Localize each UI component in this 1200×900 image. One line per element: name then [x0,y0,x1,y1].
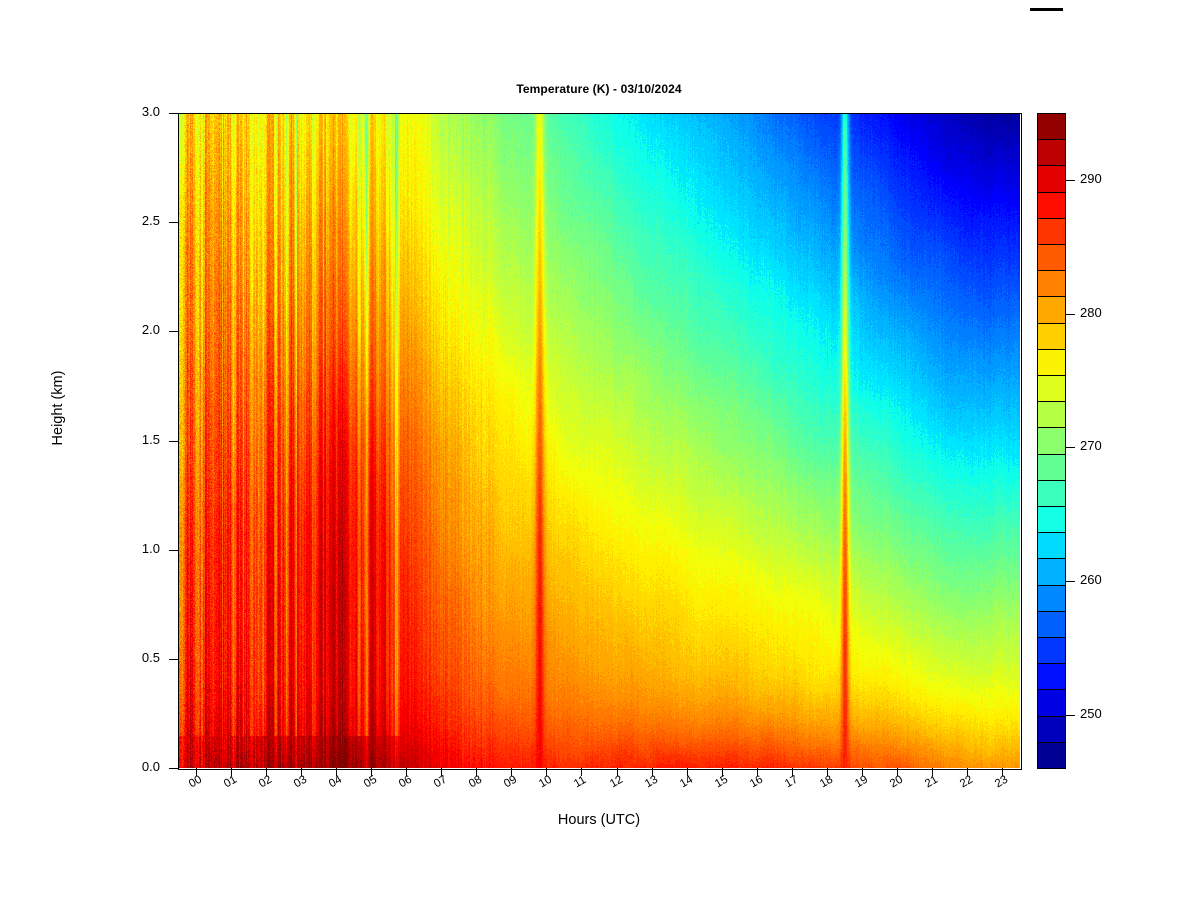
x-tick-label-10: 10 [537,774,554,791]
colorbar-tick-260 [1066,581,1075,582]
colorbar-cell [1037,349,1066,376]
y-tick-label-0.0: 0.0 [104,759,160,774]
x-tick-label-02: 02 [257,774,274,791]
y-tick-3.0 [169,113,178,114]
y-tick-2.5 [169,222,178,223]
colorbar-cell [1037,480,1066,507]
x-axis-label: Hours (UTC) [178,812,1020,828]
colorbar-cell [1037,663,1066,690]
colorbar-cell [1037,192,1066,219]
x-tick-label-22: 22 [958,774,975,791]
colorbar-tick-250 [1066,715,1075,716]
y-tick-label-2.0: 2.0 [104,322,160,337]
colorbar-cell [1037,558,1066,585]
colorbar-cell [1037,139,1066,166]
x-tick-label-06: 06 [397,774,414,791]
y-tick-label-0.5: 0.5 [104,650,160,665]
x-tick-label-07: 07 [432,774,449,791]
x-tick-label-12: 12 [608,774,625,791]
y-tick-0.0 [169,768,178,769]
y-tick-label-3.0: 3.0 [104,104,160,119]
colorbar-cell [1037,506,1066,533]
x-tick-label-14: 14 [678,774,695,791]
y-tick-label-2.5: 2.5 [104,213,160,228]
colorbar-label-260: 260 [1080,572,1102,587]
chart-figure: Temperature (K) - 03/10/2024 00010203040… [0,0,1200,900]
colorbar-cell [1037,716,1066,743]
x-tick-label-19: 19 [853,774,870,791]
x-tick-label-05: 05 [362,774,379,791]
y-tick-label-1.0: 1.0 [104,541,160,556]
x-tick-label-03: 03 [292,774,309,791]
x-tick-label-13: 13 [643,774,660,791]
x-tick-label-18: 18 [818,774,835,791]
x-tick-label-09: 09 [502,774,519,791]
x-tick-label-11: 11 [572,774,588,790]
colorbar-cell [1037,427,1066,454]
colorbar [1037,113,1066,768]
colorbar-cell [1037,244,1066,271]
x-tick-label-16: 16 [748,774,765,791]
colorbar-cell [1037,375,1066,402]
x-tick-label-20: 20 [888,774,905,791]
y-tick-label-1.5: 1.5 [104,432,160,447]
colorbar-cell [1037,742,1066,769]
colorbar-cell [1037,165,1066,192]
y-tick-0.5 [169,659,178,660]
colorbar-cell [1037,401,1066,428]
colorbar-cell [1037,113,1066,140]
colorbar-tick-290 [1066,180,1075,181]
temperature-heatmap [178,113,1020,768]
x-tick-label-04: 04 [327,774,344,791]
colorbar-cell [1037,637,1066,664]
x-tick-label-15: 15 [713,774,730,791]
x-tick-label-01: 01 [222,774,239,791]
colorbar-label-270: 270 [1080,438,1102,453]
y-axis-label: Height (km) [50,308,66,508]
colorbar-cell [1037,454,1066,481]
colorbar-cell [1037,611,1066,638]
colorbar-label-250: 250 [1080,706,1102,721]
y-tick-1.5 [169,441,178,442]
top-edge-artifact [1030,8,1063,11]
colorbar-cell [1037,323,1066,350]
colorbar-cell [1037,689,1066,716]
y-tick-1.0 [169,550,178,551]
colorbar-tick-270 [1066,447,1075,448]
colorbar-cell [1037,585,1066,612]
colorbar-tick-280 [1066,314,1075,315]
x-tick-label-21: 21 [923,774,940,791]
x-tick-label-17: 17 [783,774,800,791]
plot-title: Temperature (K) - 03/10/2024 [178,82,1020,96]
colorbar-cell [1037,296,1066,323]
colorbar-cell [1037,270,1066,297]
colorbar-cell [1037,532,1066,559]
x-tick-label-23: 23 [993,774,1010,791]
colorbar-label-280: 280 [1080,305,1102,320]
x-tick-label-00: 00 [187,774,204,791]
x-tick-label-08: 08 [467,774,484,791]
y-tick-2.0 [169,331,178,332]
colorbar-label-290: 290 [1080,171,1102,186]
colorbar-cell [1037,218,1066,245]
